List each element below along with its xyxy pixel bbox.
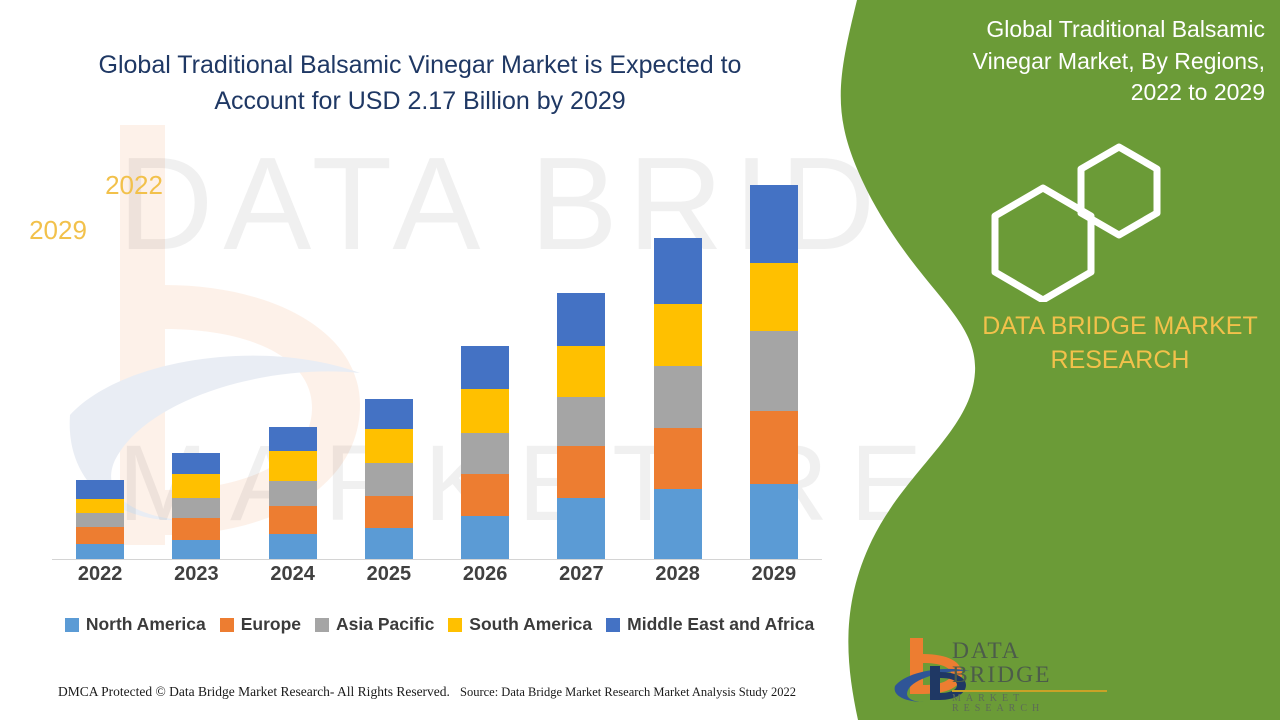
legend-label: Asia Pacific (336, 614, 434, 635)
data-bridge-logo-icon (890, 632, 1105, 704)
bar-segment[interactable] (654, 366, 702, 428)
bar-segment[interactable] (654, 304, 702, 366)
bar-segment[interactable] (172, 518, 220, 540)
legend-item[interactable]: Middle East and Africa (606, 614, 814, 635)
bar-segment[interactable] (557, 446, 605, 498)
bar-segment[interactable] (269, 451, 317, 481)
infographic-root: DATA BRIDGE MARKET RESEARCH Global Tradi… (0, 0, 1280, 720)
bar-segment[interactable] (172, 474, 220, 498)
legend-label: South America (469, 614, 592, 635)
bar-segment[interactable] (557, 346, 605, 397)
page-title: Global Traditional Balsamic Vinegar Mark… (60, 48, 780, 119)
bar-segment[interactable] (654, 489, 702, 559)
bar-segment[interactable] (750, 185, 798, 263)
legend-label: Middle East and Africa (627, 614, 814, 635)
bar-segment[interactable] (172, 453, 220, 474)
bar-slot (533, 150, 629, 559)
bar-segment[interactable] (76, 544, 124, 559)
legend-item[interactable]: Asia Pacific (315, 614, 434, 635)
bar-slot (437, 150, 533, 559)
bar-segment[interactable] (750, 263, 798, 331)
x-axis-labels: 20222023202420252026202720282029 (52, 563, 822, 586)
stacked-bar-2028[interactable] (654, 238, 702, 559)
bar-segment[interactable] (172, 540, 220, 559)
bar-segment[interactable] (365, 429, 413, 463)
bar-slot (148, 150, 244, 559)
x-axis-tick-2024: 2024 (245, 563, 341, 586)
panel-title: Global Traditional Balsamic Vinegar Mark… (955, 14, 1265, 109)
bar-segment[interactable] (76, 513, 124, 527)
chart-plot-area (52, 150, 822, 560)
legend-item[interactable]: Europe (220, 614, 301, 635)
stacked-bar-2023[interactable] (172, 453, 220, 559)
bar-segment[interactable] (365, 528, 413, 559)
bar-segment[interactable] (76, 499, 124, 513)
x-axis-tick-2026: 2026 (437, 563, 533, 586)
logo-main-text: DATA BRIDGE (952, 640, 1112, 687)
bar-slot (245, 150, 341, 559)
bar-segment[interactable] (76, 480, 124, 499)
logo-sub-text: MARKET RESEARCH (952, 694, 1112, 714)
bar-segment[interactable] (557, 498, 605, 559)
bar-segment[interactable] (269, 481, 317, 506)
bar-slot (630, 150, 726, 559)
bar-segment[interactable] (172, 498, 220, 518)
bar-segment[interactable] (654, 238, 702, 304)
x-axis-tick-2025: 2025 (341, 563, 437, 586)
bar-slot (341, 150, 437, 559)
legend-swatch-icon (448, 618, 462, 632)
bar-segment[interactable] (365, 496, 413, 528)
hexagon-shapes-icon (985, 142, 1185, 302)
bar-segment[interactable] (461, 474, 509, 516)
bar-segment[interactable] (365, 399, 413, 429)
bar-segment[interactable] (557, 397, 605, 446)
footer-copyright: DMCA Protected © Data Bridge Market Rese… (58, 684, 450, 700)
x-axis-tick-2022: 2022 (52, 563, 148, 586)
stacked-bar-2026[interactable] (461, 346, 509, 559)
stacked-bar-2025[interactable] (365, 399, 413, 559)
legend-item[interactable]: North America (65, 614, 206, 635)
bar-segment[interactable] (269, 427, 317, 451)
x-axis-tick-2023: 2023 (148, 563, 244, 586)
logo-divider (952, 690, 1107, 692)
bar-segment[interactable] (461, 346, 509, 389)
bar-segment[interactable] (269, 534, 317, 559)
bar-slot (52, 150, 148, 559)
bar-segment[interactable] (76, 527, 124, 544)
legend-label: North America (86, 614, 206, 635)
legend-swatch-icon (220, 618, 234, 632)
bar-segment[interactable] (461, 516, 509, 559)
stacked-bar-2022[interactable] (76, 480, 124, 559)
bar-segment[interactable] (750, 411, 798, 484)
legend-item[interactable]: South America (448, 614, 592, 635)
chart-legend: North AmericaEuropeAsia PacificSouth Ame… (52, 614, 827, 635)
footer-source: Source: Data Bridge Market Research Mark… (460, 685, 796, 700)
hexagon-group (985, 142, 1185, 302)
stacked-bar-chart (52, 150, 822, 560)
bar-segment[interactable] (461, 433, 509, 474)
logo-wordmark: DATA BRIDGE MARKET RESEARCH (952, 640, 1112, 714)
bar-segment[interactable] (365, 463, 413, 496)
stacked-bar-2027[interactable] (557, 293, 605, 559)
bar-slot (726, 150, 822, 559)
x-axis-tick-2027: 2027 (533, 563, 629, 586)
x-axis-tick-2029: 2029 (726, 563, 822, 586)
legend-label: Europe (241, 614, 301, 635)
bar-segment[interactable] (750, 484, 798, 559)
stacked-bar-2024[interactable] (269, 427, 317, 559)
brand-name: DATA BRIDGE MARKET RESEARCH (960, 310, 1280, 378)
bar-segment[interactable] (269, 506, 317, 534)
legend-swatch-icon (65, 618, 79, 632)
stacked-bar-2029[interactable] (750, 185, 798, 559)
bar-segment[interactable] (461, 389, 509, 433)
x-axis-tick-2028: 2028 (630, 563, 726, 586)
bar-segment[interactable] (557, 293, 605, 346)
bar-segment[interactable] (750, 331, 798, 411)
legend-swatch-icon (606, 618, 620, 632)
bar-segment[interactable] (654, 428, 702, 489)
legend-swatch-icon (315, 618, 329, 632)
